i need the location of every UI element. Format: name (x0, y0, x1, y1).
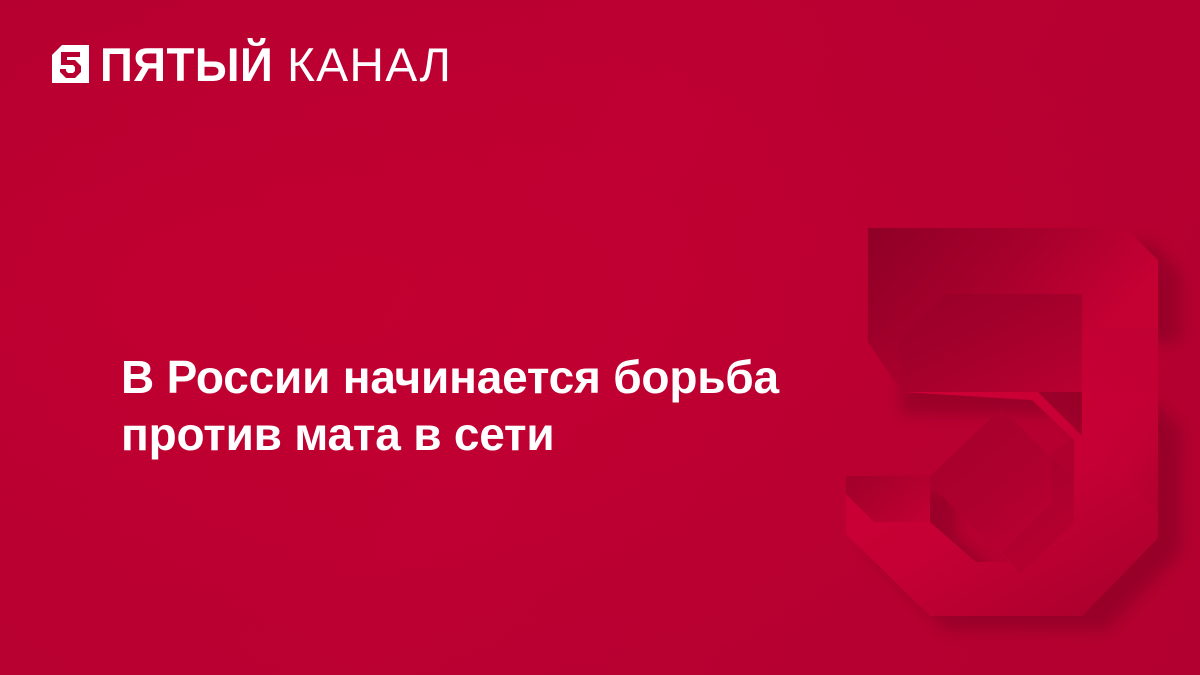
logo-word-bold: ПЯТЫЙ (100, 41, 273, 88)
logo-wordmark: ПЯТЫЙ КАНАЛ (100, 41, 448, 88)
headline-line-2: против мата в сети (121, 406, 881, 463)
logo-word-light: КАНАЛ (287, 41, 452, 88)
headline-line-1: В России начинается борьба (121, 349, 881, 406)
headline: В России начинается борьба против мата в… (121, 349, 881, 463)
site-logo[interactable]: ПЯТЫЙ КАНАЛ (52, 36, 448, 92)
share-card: ПЯТЫЙ КАНАЛ В России начинается борьба п… (0, 0, 1200, 675)
five-channel-mark-icon (52, 45, 89, 83)
